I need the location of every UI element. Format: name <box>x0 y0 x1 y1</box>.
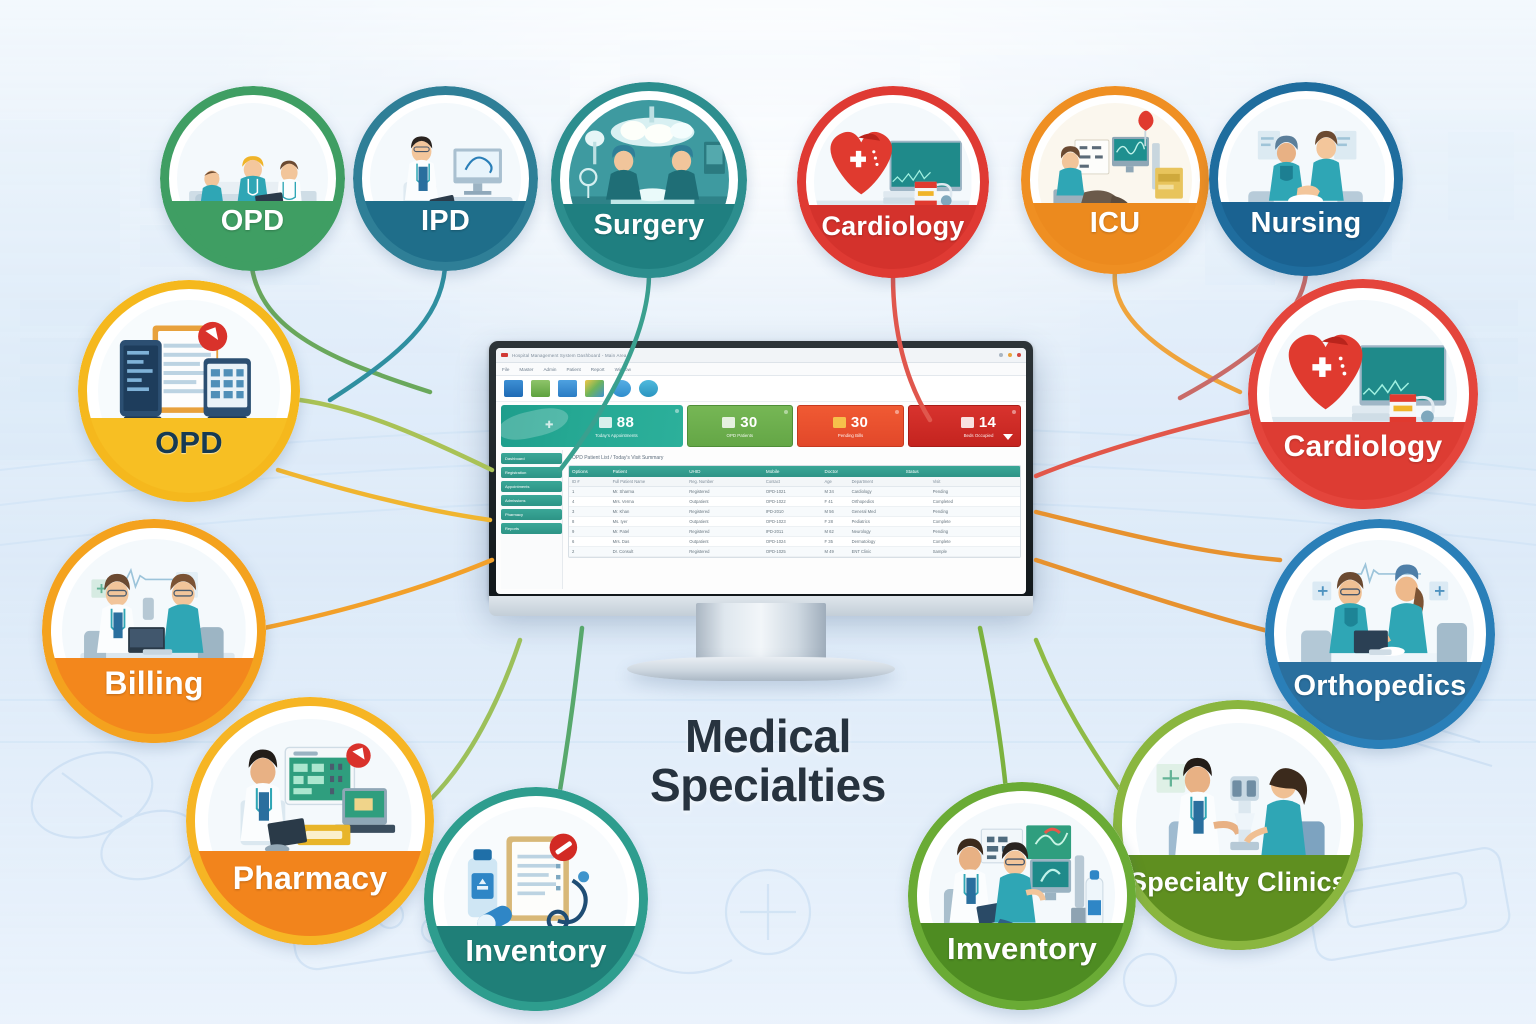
calendar-icon <box>599 417 612 428</box>
patient-icon <box>722 417 735 428</box>
node-label: OPD <box>149 427 229 458</box>
node-pharmacy[interactable]: Pharmacy <box>186 697 434 945</box>
node-label: Imventory <box>941 933 1103 964</box>
connector-inventory-right <box>980 628 1006 790</box>
node-label: Orthopedics <box>1288 672 1473 701</box>
monitor-stand-base <box>627 657 895 681</box>
node-label: OPD <box>215 207 290 236</box>
node-label-band: IPD <box>353 201 538 271</box>
node-label-band: Imventory <box>908 923 1136 1010</box>
node-label-band: ICU <box>1021 203 1209 274</box>
kpi-label: Today's Appointments <box>595 433 638 438</box>
node-label-band: Inventory <box>424 926 648 1011</box>
page-title-line2: Specialties <box>558 761 978 810</box>
node-bubble: ICU <box>1021 86 1209 274</box>
kpi-value: 30 <box>740 415 757 430</box>
node-bubble: Specialty Clinics <box>1113 700 1363 950</box>
node-label: Inventory <box>459 935 612 966</box>
node-opd-top[interactable]: OPD <box>160 86 345 271</box>
node-icu[interactable]: ICU <box>1021 86 1209 274</box>
node-label-band: Surgery <box>551 204 747 278</box>
node-label-band: Cardiology <box>797 205 989 278</box>
node-label-band: Pharmacy <box>186 851 434 945</box>
node-inventory-right[interactable]: Imventory <box>908 782 1136 1010</box>
node-inventory-left[interactable]: Inventory <box>424 787 648 1011</box>
node-label-band: Nursing <box>1209 202 1403 276</box>
kpi-label: Pending Bills <box>838 433 863 438</box>
node-bubble: Cardiology <box>1248 279 1478 509</box>
connector-specialty <box>1036 640 1120 790</box>
node-label: Billing <box>98 667 209 699</box>
connector-opd-left-2 <box>278 470 490 520</box>
connector-ipd <box>330 268 445 400</box>
node-label-band: OPD <box>78 418 300 502</box>
node-label: IPD <box>415 207 476 236</box>
node-label: Cardiology <box>1278 432 1449 462</box>
connector-opd-left <box>300 400 492 470</box>
node-nursing[interactable]: Nursing <box>1209 82 1403 276</box>
kpi-label: OPD Patients <box>727 433 754 438</box>
node-bubble: Imventory <box>908 782 1136 1010</box>
page-title: Medical Specialties <box>558 712 978 810</box>
node-bubble: OPD <box>78 280 300 502</box>
connector-billing <box>264 560 492 628</box>
monitor-stand-neck <box>696 603 826 665</box>
kpi-value: 14 <box>979 415 996 430</box>
node-ipd[interactable]: IPD <box>353 86 538 271</box>
node-cardiology-top[interactable]: Cardiology <box>797 86 989 278</box>
node-label-band: OPD <box>160 201 345 271</box>
connector-ortho-2 <box>1036 512 1280 560</box>
node-bubble: Pharmacy <box>186 697 434 945</box>
connector-surgery <box>560 276 649 470</box>
connector-ortho <box>1036 560 1272 632</box>
bill-icon <box>833 417 846 428</box>
kpi-label: Beds Occupied <box>964 433 994 438</box>
node-surgery[interactable]: Surgery <box>551 82 747 278</box>
kpi-value: 88 <box>617 415 634 430</box>
node-cardiology-right[interactable]: Cardiology <box>1248 279 1478 509</box>
node-bubble: IPD <box>353 86 538 271</box>
node-bubble: Surgery <box>551 82 747 278</box>
node-label: Cardiology <box>815 213 970 240</box>
node-bubble: Nursing <box>1209 82 1403 276</box>
node-label: Nursing <box>1245 209 1368 238</box>
bed-icon <box>961 417 974 428</box>
node-bubble: Cardiology <box>797 86 989 278</box>
node-bubble: Inventory <box>424 787 648 1011</box>
connector-pharmacy <box>430 640 520 800</box>
connector-cardiology-top <box>893 276 930 420</box>
node-label: ICU <box>1084 209 1147 238</box>
node-specialty-clinics[interactable]: Specialty Clinics <box>1113 700 1363 950</box>
page-title-line1: Medical <box>558 712 978 761</box>
node-label: Specialty Clinics <box>1123 869 1353 896</box>
node-label: Surgery <box>588 211 711 240</box>
node-label: Pharmacy <box>227 862 394 894</box>
connector-cardiology-right <box>1036 410 1256 476</box>
kpi-value: 30 <box>851 415 868 430</box>
node-opd-left[interactable]: OPD <box>78 280 300 502</box>
node-label-band: Cardiology <box>1248 422 1478 509</box>
node-bubble: OPD <box>160 86 345 271</box>
node-label-band: Specialty Clinics <box>1113 855 1363 950</box>
